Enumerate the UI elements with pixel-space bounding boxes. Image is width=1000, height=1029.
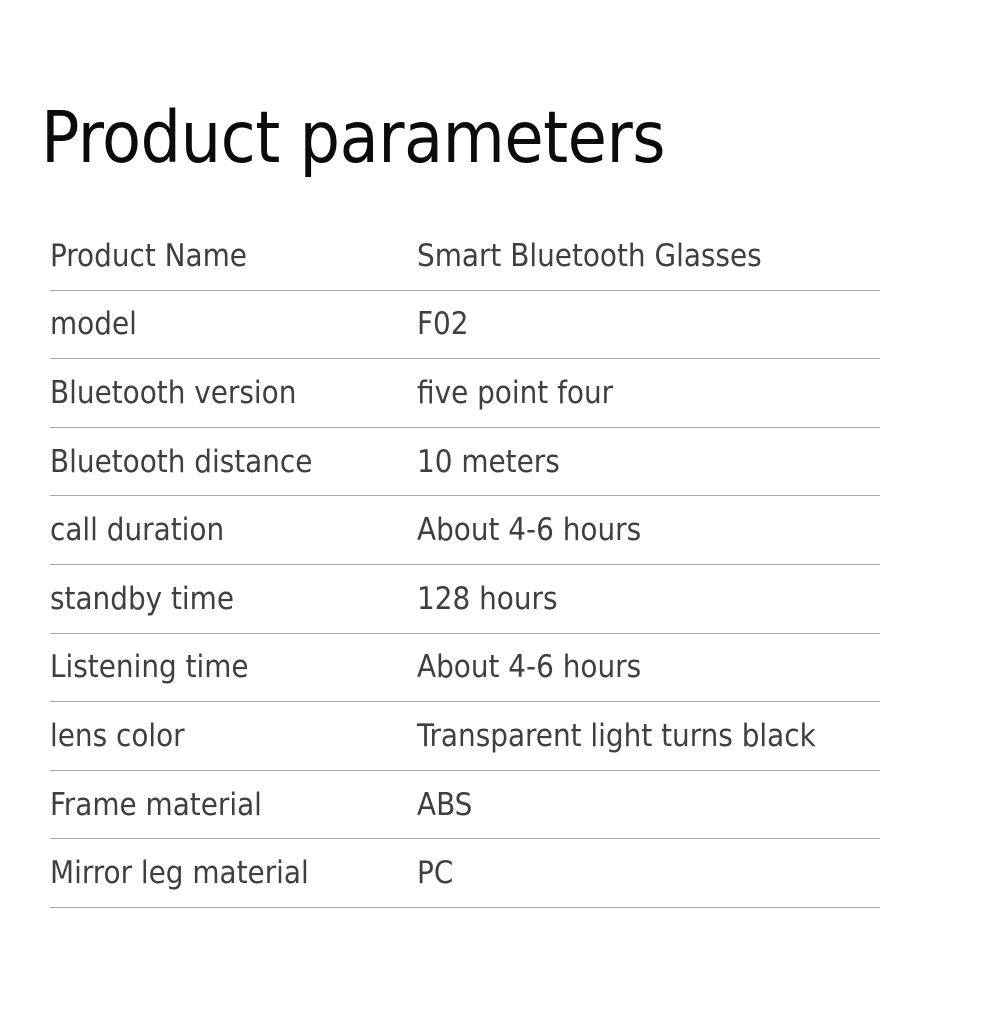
spec-label: Product Name	[50, 237, 417, 275]
spec-label: call duration	[50, 511, 417, 549]
spec-label: standby time	[50, 580, 417, 618]
spec-label: Bluetooth version	[50, 374, 417, 412]
page-title: Product parameters	[41, 98, 665, 178]
spec-value: five point four	[417, 374, 880, 412]
spec-label: Bluetooth distance	[50, 443, 417, 481]
spec-value: 128 hours	[417, 580, 880, 618]
spec-value: About 4-6 hours	[417, 511, 880, 549]
table-row: lens color Transparent light turns black	[50, 702, 880, 771]
table-row: Mirror leg material PC	[50, 839, 880, 908]
spec-value: PC	[417, 854, 880, 892]
table-row: call duration About 4-6 hours	[50, 496, 880, 565]
product-parameters-page: Product parameters Product Name Smart Bl…	[0, 0, 1000, 1029]
spec-value: Transparent light turns black	[417, 717, 880, 755]
spec-value: Smart Bluetooth Glasses	[417, 237, 880, 275]
table-row: standby time 128 hours	[50, 565, 880, 634]
spec-label: model	[50, 305, 417, 343]
spec-value: F02	[417, 305, 880, 343]
table-row: Listening time About 4-6 hours	[50, 634, 880, 703]
spec-label: lens color	[50, 717, 417, 755]
spec-value: About 4-6 hours	[417, 648, 880, 686]
spec-label: Frame material	[50, 786, 417, 824]
table-row: Frame material ABS	[50, 771, 880, 840]
product-spec-table: Product Name Smart Bluetooth Glasses mod…	[50, 222, 880, 908]
table-row: Bluetooth version five point four	[50, 359, 880, 428]
spec-value: 10 meters	[417, 443, 880, 481]
spec-label: Listening time	[50, 648, 417, 686]
spec-value: ABS	[417, 786, 880, 824]
table-row: Bluetooth distance 10 meters	[50, 428, 880, 497]
table-row: Product Name Smart Bluetooth Glasses	[50, 222, 880, 291]
spec-label: Mirror leg material	[50, 854, 417, 892]
table-row: model F02	[50, 291, 880, 360]
